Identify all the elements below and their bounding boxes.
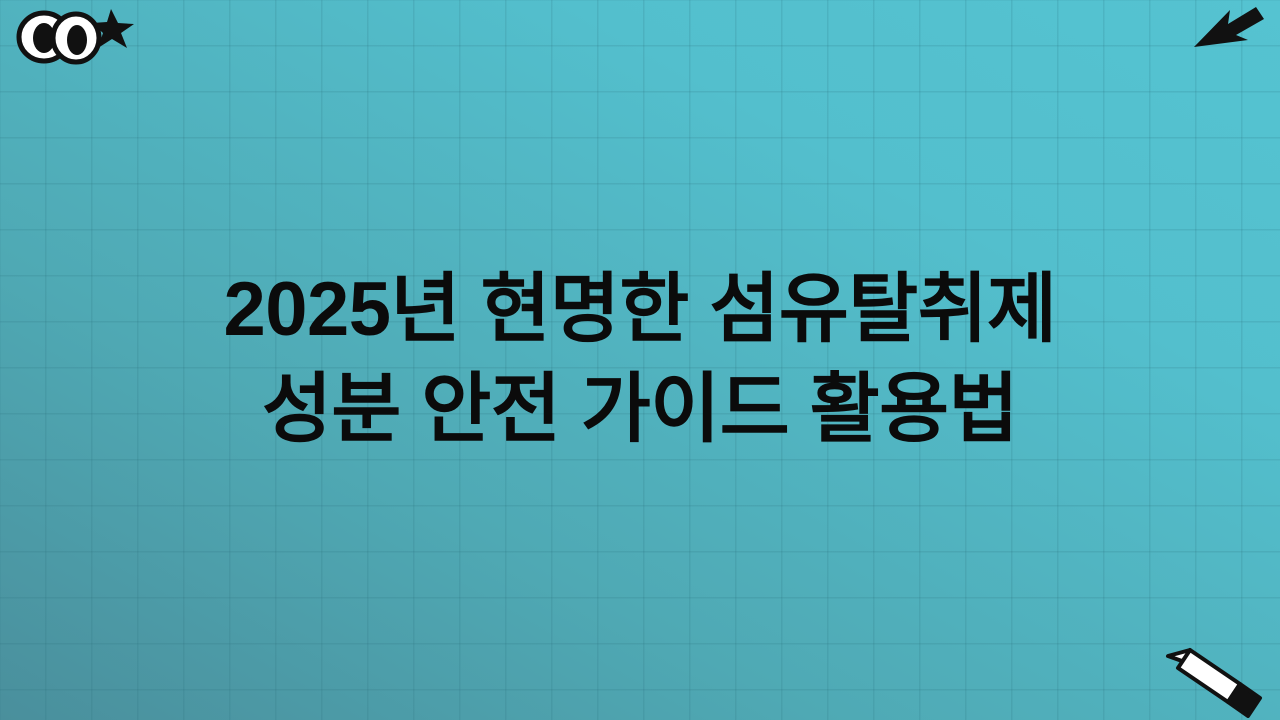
title-line-2: 성분 안전 가이드 활용법 bbox=[262, 360, 1018, 460]
thumbnail-canvas: 2025년 현명한 섬유탈취제 성분 안전 가이드 활용법 bbox=[0, 0, 1280, 720]
title-line-1: 2025년 현명한 섬유탈취제 bbox=[223, 260, 1056, 360]
title-block: 2025년 현명한 섬유탈취제 성분 안전 가이드 활용법 bbox=[0, 0, 1280, 720]
